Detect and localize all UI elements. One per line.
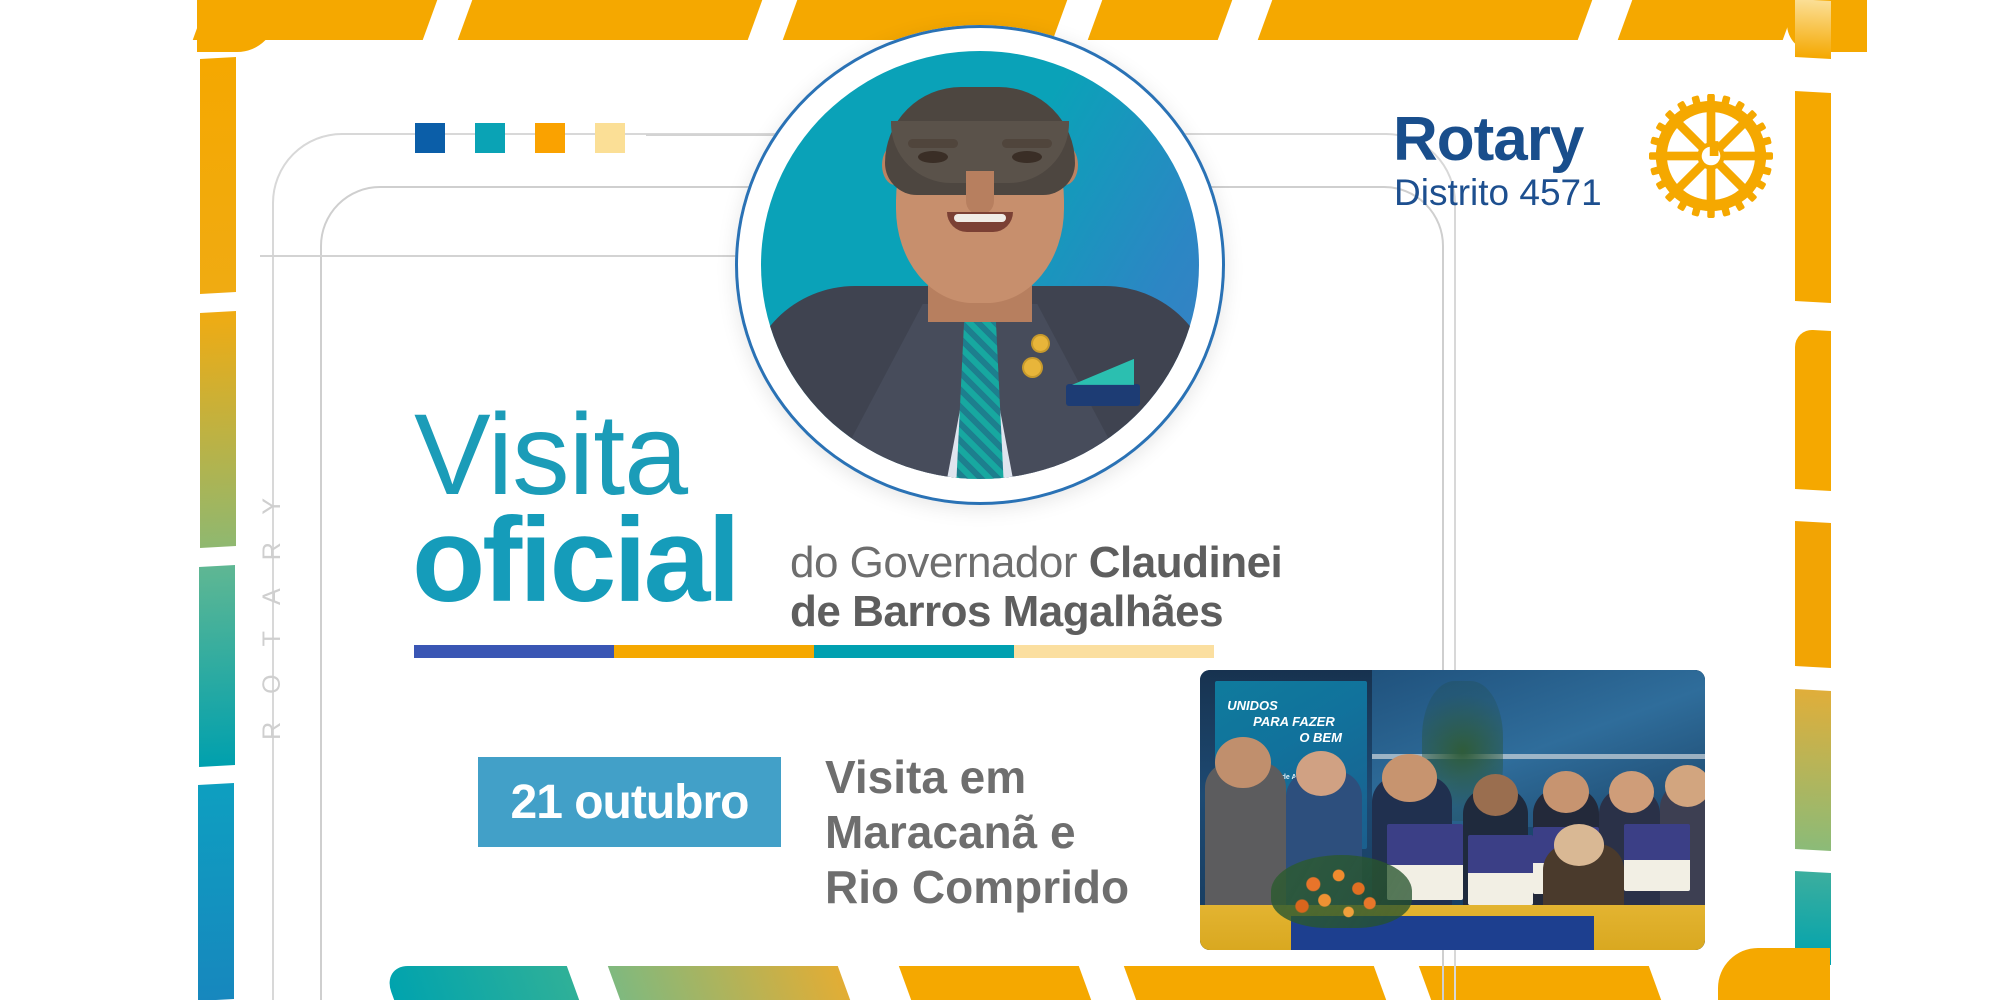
frame-dash-top [1618,0,1798,40]
photo-banner-line2: PARA FAZER [1227,714,1360,730]
governor-portrait [735,25,1225,505]
governor-subtitle: do Governador Claudinei de Barros Magalh… [790,538,1282,637]
photo-flower-arrangement [1271,855,1412,928]
photo-certificate [1468,835,1534,905]
frame-dash-top [1258,0,1593,40]
portrait-mouth [947,212,1013,232]
photo-face [1473,774,1518,816]
accent-color-bar [414,645,1214,658]
frame-dash-left [199,565,235,767]
frame-dash-left [200,57,236,294]
decor-square-yellow [595,123,625,153]
event-date-text: 21 outubro [511,775,749,830]
photo-certificate [1624,824,1690,891]
rotary-district-label: Distrito 4571 [1394,172,1602,214]
event-location-line2: Maracanã e [825,805,1129,860]
rotary-wordmark: Rotary [1393,104,1583,175]
color-bar-segment-yellow [1014,645,1214,658]
decor-square-orange [535,123,565,153]
decor-square-teal [475,123,505,153]
poster-canvas: ROTARY R [0,0,2000,1000]
event-date-badge: 21 outubro [478,757,781,847]
rotary-wheel-icon [1649,94,1773,218]
color-bar-segment-orange [614,645,814,658]
vertical-rotary-watermark: ROTARY [258,470,287,740]
photo-face [1543,771,1588,813]
photo-face [1609,771,1654,813]
color-bar-segment-blue [414,645,614,658]
portrait-eyebrow-right [1002,139,1052,148]
decor-square-blue [415,123,445,153]
event-location: Visita em Maracanã e Rio Comprido [825,750,1129,916]
frame-dash-right [1795,91,1831,303]
frame-corner-top-left [197,0,277,52]
governor-subtitle-row1: do Governador Claudinei [790,538,1282,587]
frame-dash-right [1795,0,1831,59]
frame-dash-right [1795,329,1831,491]
photo-face-seated [1554,824,1605,866]
frame-corner-bottom-right [1718,948,1830,1000]
photo-banner-line1: UNIDOS [1227,698,1360,714]
governor-name-part2: de Barros Magalhães [790,587,1223,636]
headline-oficial: oficial [412,500,738,620]
event-location-line1: Visita em [825,750,1129,805]
photo-face [1665,765,1705,807]
portrait-photo [761,51,1199,479]
portrait-eyebrow-left [908,139,958,148]
photo-face [1382,754,1438,802]
event-location-line3: Rio Comprido [825,860,1129,915]
portrait-nose [966,171,994,215]
color-bar-segment-teal [814,645,1014,658]
frame-dash-right [1795,521,1831,668]
portrait-lapel-pin [1033,336,1048,351]
rotary-logo: Rotary Distrito 4571 [1393,100,1773,230]
governor-subtitle-row2: de Barros Magalhães [790,587,1282,636]
portrait-lapel-pin [1024,359,1041,376]
frame-dash-left [200,311,236,548]
frame-dash-left [198,783,234,1000]
frame-dash-top [458,0,763,40]
photo-face [1215,737,1271,787]
portrait-name-badge [1066,384,1140,406]
photo-face [1296,751,1347,796]
group-photo: UNIDOS PARA FAZER O BEM Claudia R. de Au… [1200,670,1705,950]
governor-prefix: do Governador [790,538,1089,587]
frame-dash-right [1795,689,1831,851]
governor-name-part1: Claudinei [1089,538,1283,587]
